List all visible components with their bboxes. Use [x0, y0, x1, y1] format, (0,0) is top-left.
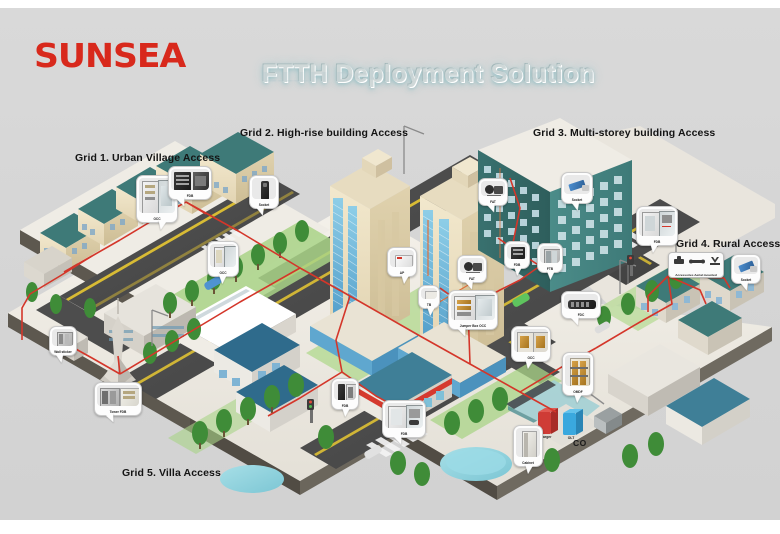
callout-socket-rural[interactable]: Socket — [731, 254, 761, 284]
callout-tail — [256, 206, 265, 216]
callout-fdb-rural[interactable]: FDB — [636, 206, 678, 246]
poster-canvas: SUNSEA FTTH Deployment Solution FTTH Dep… — [0, 8, 780, 520]
fdb-shop-image — [385, 403, 423, 428]
callout-fat-multistorey[interactable]: FAT — [478, 178, 508, 206]
callout-ftb-multistorey[interactable]: FTB — [537, 243, 563, 273]
wall-sticker-image — [52, 329, 74, 346]
callout-tail — [740, 281, 749, 291]
callout-tail — [56, 354, 65, 364]
callout-fdb-villa[interactable]: FDB — [331, 378, 359, 410]
callout-tower-fdb[interactable]: Tower FDB — [94, 382, 142, 416]
callout-occ-street[interactable]: OCC — [207, 241, 239, 277]
callout-fat-highrise[interactable]: FAT — [457, 255, 487, 283]
callout-omdf[interactable]: OMDF — [562, 352, 594, 396]
accessories-caption: Accessories Aerial mounted — [669, 273, 723, 277]
grid-label-2: Grid 2. High-rise building Access — [240, 127, 408, 139]
ftb-unit-image — [540, 246, 560, 263]
olt-caption: OLT — [559, 436, 583, 440]
accessories-aerial-mounted-box[interactable]: Accessories Aerial mounted — [668, 252, 724, 278]
callout-tail — [571, 201, 580, 211]
callout-tail — [545, 270, 554, 280]
tower-fdb-image — [97, 385, 139, 406]
socket-image — [252, 178, 276, 199]
callout-label: FDB — [637, 240, 677, 244]
ap-unit-image — [390, 250, 414, 267]
jumper-box-occ-image — [451, 293, 495, 320]
fdb-image — [507, 244, 527, 259]
callout-label: FDB — [383, 432, 425, 436]
callout-tail — [217, 274, 226, 284]
callout-fdc-street[interactable]: FDC — [561, 291, 601, 319]
callout-tail — [340, 407, 349, 417]
callout-label: FDC — [562, 313, 600, 317]
grid-label-1: Grid 1. Urban Village Access — [75, 152, 220, 164]
grid-label-5: Grid 5. Villa Access — [122, 467, 221, 479]
callout-label: OCC — [512, 356, 550, 360]
cabinet-image — [516, 428, 540, 457]
fdb-rural-image — [639, 209, 675, 236]
fdc-image — [564, 294, 598, 309]
callout-occ-junction[interactable]: OCC — [511, 326, 551, 362]
screenshot-root: SUNSEA FTTH Deployment Solution FTTH Dep… — [0, 0, 780, 534]
grid-label-4: Grid 4. Rural Access — [676, 238, 780, 250]
callout-tail — [572, 393, 581, 403]
socket-image — [564, 175, 590, 194]
callout-tail — [512, 266, 521, 276]
callout-tb-highrise[interactable]: TB — [418, 285, 440, 309]
callout-fdb-multistorey[interactable]: FDB — [504, 241, 530, 269]
callout-tail — [425, 306, 434, 316]
tb-unit-image — [421, 288, 437, 299]
grid-label-3: Grid 3. Multi-storey building Access — [533, 127, 715, 139]
callout-label: Jumper Box OCC — [449, 324, 497, 328]
accessories-icons — [670, 254, 724, 271]
fdb-image — [171, 169, 209, 190]
callout-label: Tower FDB — [95, 410, 141, 414]
omdf-rack-image — [565, 355, 591, 386]
callout-ap-highrise[interactable]: AP — [387, 247, 417, 277]
callout-label: FDB — [169, 194, 211, 198]
callout-cabinet-co[interactable]: Cabinet — [513, 425, 543, 467]
callout-jumper-box-occ[interactable]: Jumper Box OCC — [448, 290, 498, 330]
fat-unit-image — [481, 181, 505, 196]
fdb-villa-image — [334, 381, 356, 400]
callout-socket-multistorey[interactable]: Socket — [561, 172, 593, 204]
fat-unit-image — [460, 258, 484, 273]
callout-label: OCC — [137, 217, 177, 221]
occ-split-image — [514, 329, 548, 352]
occ-street-image — [210, 244, 236, 267]
callout-tail — [487, 203, 497, 214]
callout-fdb-shop[interactable]: FDB — [382, 400, 426, 438]
callout-wall-sticker[interactable]: Wall sticker — [49, 326, 77, 356]
callout-tail — [571, 316, 581, 327]
callout-fdb-village[interactable]: FDB — [168, 166, 212, 200]
socket-blue-image — [734, 257, 758, 274]
callout-socket-village[interactable]: Socket — [249, 175, 279, 209]
